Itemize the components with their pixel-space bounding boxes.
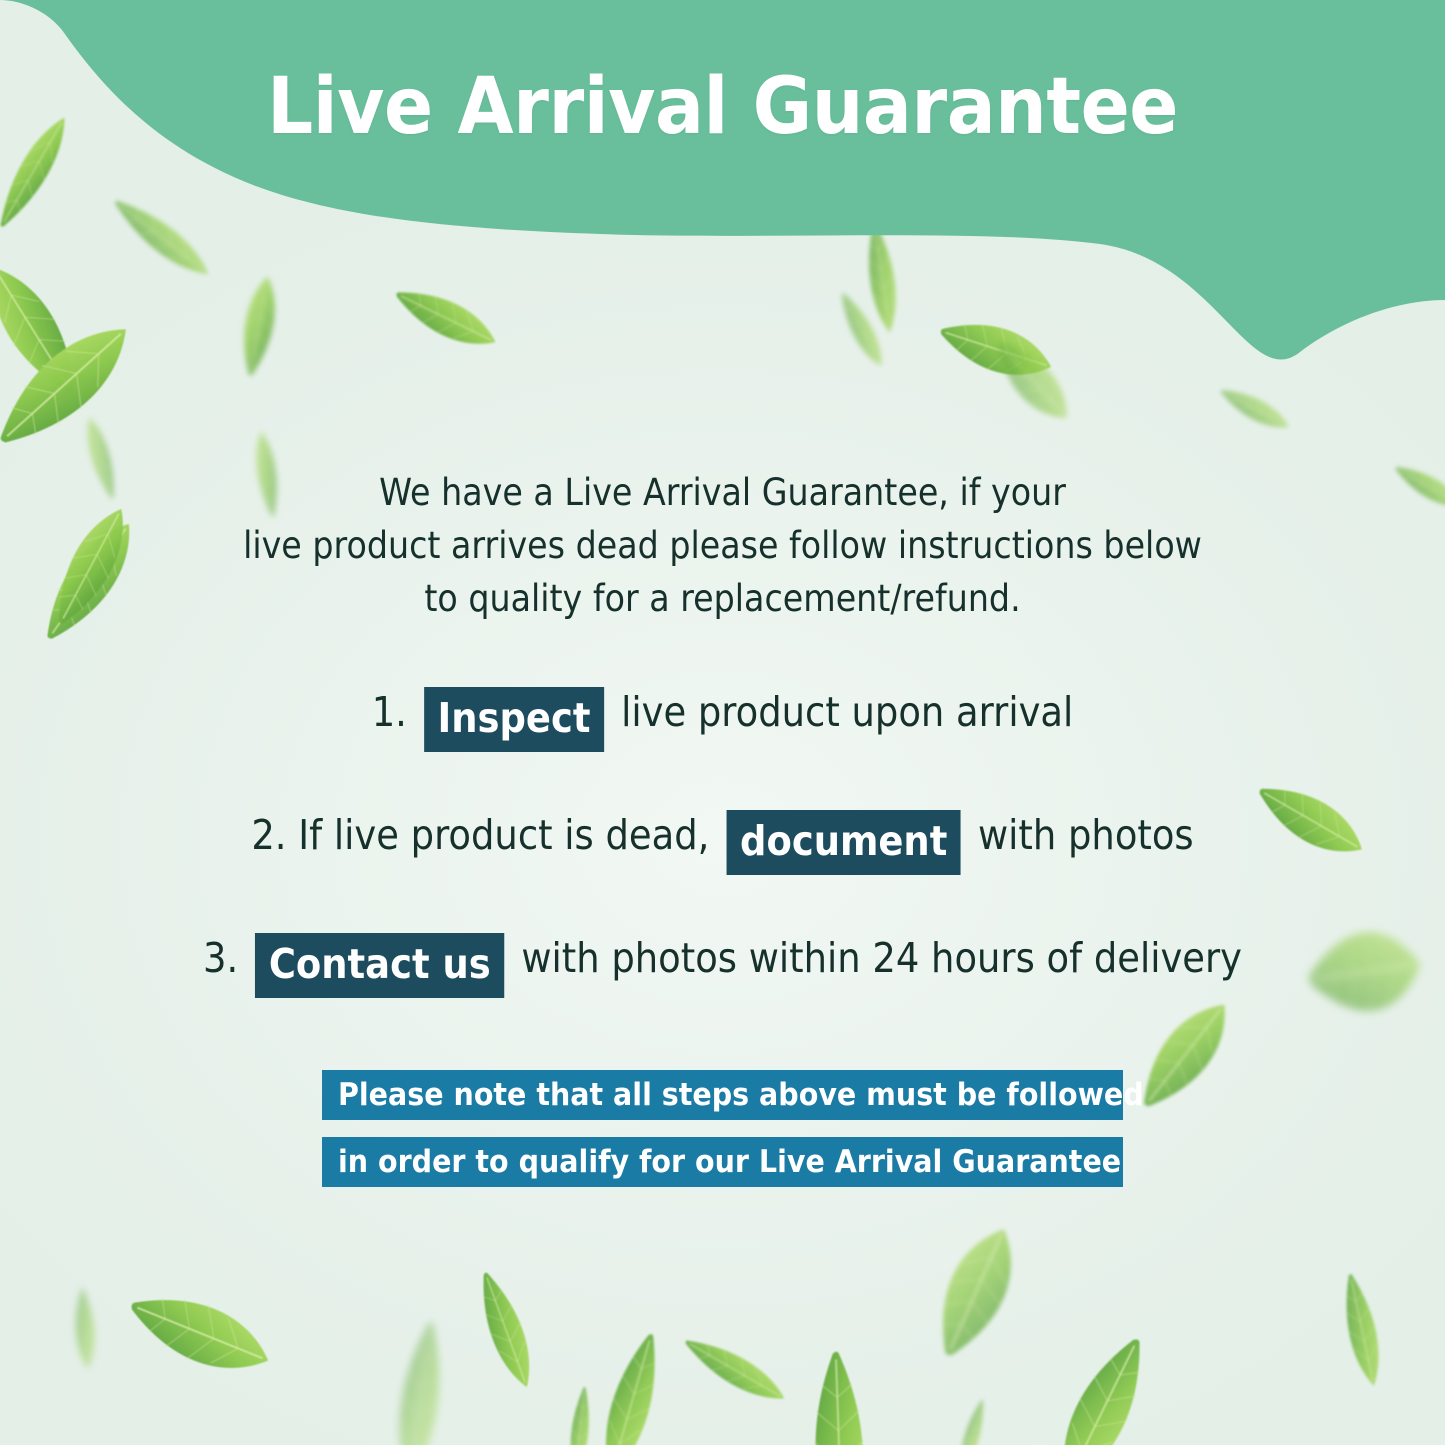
poster-canvas: Live Arrival Guarantee We have a Live Ar… — [0, 0, 1445, 1445]
step-number-3: 3. — [203, 934, 238, 982]
step-text-1: live product upon arrival — [621, 688, 1073, 736]
note-line-1-text: Please note that all steps above must be… — [338, 1070, 1144, 1120]
step-text-2-before: If live product is dead, — [298, 811, 709, 859]
step-item-2: 2. If live product is dead, document wit… — [72, 799, 1373, 875]
intro-line-2: live product arrives dead please follow … — [72, 519, 1373, 572]
intro-line-3: to quality for a replacement/refund. — [72, 572, 1373, 625]
step-item-1: 1. Inspect live product upon arrival — [72, 676, 1373, 752]
note-line-2: in order to qualify for our Live Arrival… — [322, 1137, 1123, 1187]
note-line-1: Please note that all steps above must be… — [322, 1070, 1123, 1120]
intro-line-1: We have a Live Arrival Guarantee, if you… — [72, 466, 1373, 519]
main-content: We have a Live Arrival Guarantee, if you… — [0, 0, 1445, 1445]
intro-paragraph: We have a Live Arrival Guarantee, if you… — [72, 466, 1373, 625]
step-number-1: 1. — [372, 688, 407, 736]
step-highlight-document[interactable]: document — [727, 810, 961, 875]
step-item-3: 3. Contact us with photos within 24 hour… — [72, 922, 1373, 998]
steps-list: 1. Inspect live product upon arrival 2. … — [0, 676, 1445, 998]
step-text-2-after: with photos — [978, 811, 1194, 859]
note-line-2-text: in order to qualify for our Live Arrival… — [338, 1137, 1121, 1187]
step-text-3: with photos within 24 hours of delivery — [521, 934, 1242, 982]
step-highlight-inspect[interactable]: Inspect — [424, 687, 604, 752]
note-block: Please note that all steps above must be… — [0, 1070, 1445, 1204]
step-highlight-contact-us[interactable]: Contact us — [255, 933, 504, 998]
step-number-2: 2. — [251, 811, 286, 859]
